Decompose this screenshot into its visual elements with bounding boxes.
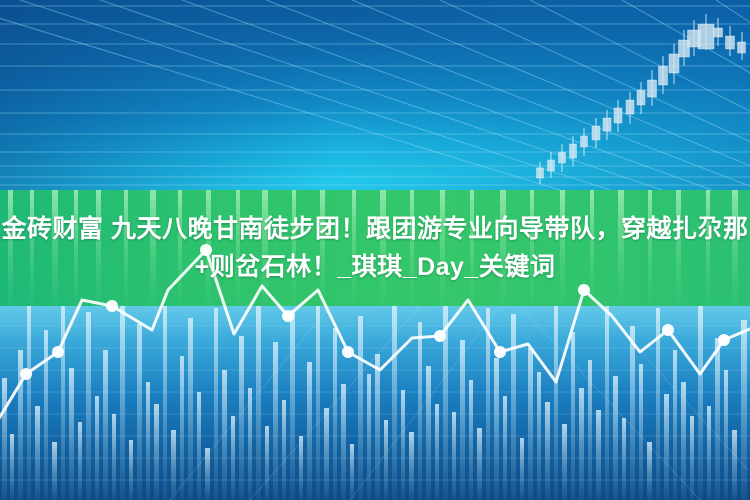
lower-chart-panel	[0, 300, 750, 500]
green-title-band	[0, 190, 750, 306]
upper-sky-panel	[0, 0, 750, 190]
banner-image: 金砖财富 九天八晚甘南徒步团！跟团游专业向导带队，穿越扎尕那 +则岔石林！_琪琪…	[0, 0, 750, 500]
background-chart-graphic	[0, 0, 750, 500]
